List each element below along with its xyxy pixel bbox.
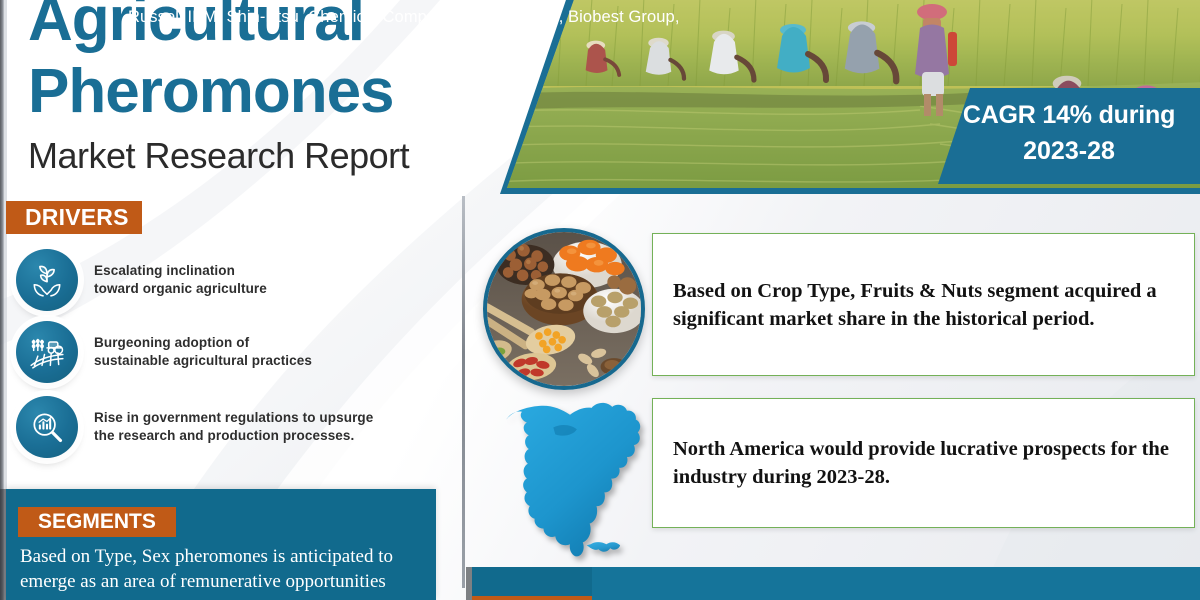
- page-subtitle: Market Research Report: [28, 134, 548, 178]
- segments-body-line2: emerge as an area of remunerative opport…: [20, 569, 432, 594]
- drivers-section-tag: DRIVERS: [6, 201, 142, 234]
- driver-item-2-text: Burgeoning adoption of sustainable agric…: [94, 334, 312, 370]
- segments-body: Based on Type, Sex pheromones is anticip…: [20, 544, 432, 594]
- highlight-card-north-america: North America would provide lucrative pr…: [652, 398, 1195, 528]
- bottom-orange-accent: [472, 596, 592, 600]
- driver-item-3-text: Rise in government regulations to upsurg…: [94, 409, 373, 445]
- driver-item-2-line2: sustainable agricultural practices: [94, 352, 312, 370]
- driver-item-1: Escalating inclination toward organic ag…: [16, 249, 436, 311]
- driver-item-1-line1: Escalating inclination: [94, 262, 267, 280]
- vertical-divider: [462, 196, 465, 588]
- highlight-card-north-america-text: North America would provide lucrative pr…: [653, 435, 1194, 491]
- segments-body-line1: Based on Type, Sex pheromones is anticip…: [20, 544, 432, 569]
- driver-item-1-line2: toward organic agriculture: [94, 280, 267, 298]
- driver-item-3: Rise in government regulations to upsurg…: [16, 396, 436, 458]
- plant-in-hands-icon: [16, 249, 78, 311]
- companies-list-text: Russell IPM, Shin-Etsu ,Chemical Company…: [128, 6, 728, 28]
- driver-item-3-line1: Rise in government regulations to upsurg…: [94, 409, 373, 427]
- segments-panel: SEGMENTS Based on Type, Sex pheromones i…: [6, 489, 436, 600]
- fruits-and-nuts-bowls-photo: [483, 228, 645, 390]
- segments-section-tag: SEGMENTS: [18, 507, 176, 537]
- driver-item-1-text: Escalating inclination toward organic ag…: [94, 262, 267, 298]
- magnifier-bar-chart-icon: [16, 396, 78, 458]
- north-america-map: [492, 398, 650, 560]
- cagr-line2: 2023-28: [938, 130, 1200, 166]
- page-title-line2: Pheromones: [28, 56, 548, 128]
- cagr-line1: CAGR 14% during: [938, 88, 1200, 130]
- highlight-card-crop-type: Based on Crop Type, Fruits & Nuts segmen…: [652, 233, 1195, 376]
- infographic-root: Agricultural Pheromones Market Research …: [0, 0, 1200, 600]
- highlight-card-crop-type-text: Based on Crop Type, Fruits & Nuts segmen…: [653, 277, 1194, 333]
- companies-bar-tab: [592, 567, 1200, 600]
- driver-item-2-line1: Burgeoning adoption of: [94, 334, 312, 352]
- farm-tractor-field-icon: [16, 321, 78, 383]
- cagr-badge: CAGR 14% during 2023-28: [938, 88, 1200, 184]
- driver-item-2: Burgeoning adoption of sustainable agric…: [16, 321, 436, 383]
- driver-item-3-line2: the research and production processes.: [94, 427, 373, 445]
